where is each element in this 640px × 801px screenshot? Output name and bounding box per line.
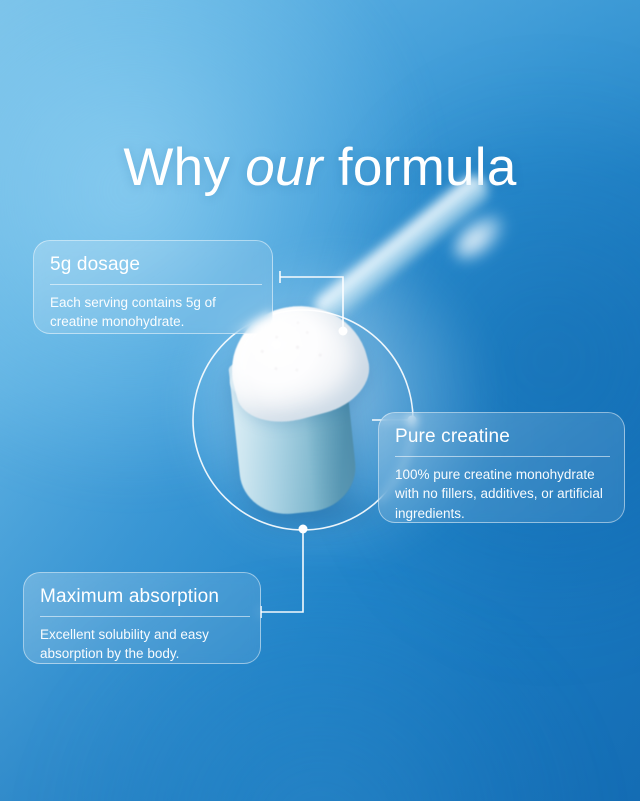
card-title: 5g dosage	[50, 253, 256, 277]
card-body: 100% pure creatine monohydrate with no f…	[395, 465, 608, 524]
card-divider	[50, 284, 262, 285]
page-title-emphasis: our	[245, 138, 323, 197]
card-title: Pure creatine	[395, 425, 608, 449]
card-body: Each serving contains 5g of creatine mon…	[50, 293, 256, 332]
card-pure-creatine[interactable]: Pure creatine 100% pure creatine monohyd…	[378, 412, 625, 523]
card-divider	[395, 456, 610, 457]
page-title: Why our formula	[0, 139, 640, 197]
card-divider	[40, 616, 250, 617]
page-title-suffix: formula	[338, 138, 517, 197]
card-5g-dosage[interactable]: 5g dosage Each serving contains 5g of cr…	[33, 240, 273, 334]
card-body: Excellent solubility and easy absorption…	[40, 625, 244, 664]
page-title-prefix: Why	[123, 138, 230, 197]
card-maximum-absorption[interactable]: Maximum absorption Excellent solubility …	[23, 572, 261, 664]
promo-banner: Why our formula 5g dosage E	[0, 0, 640, 801]
card-title: Maximum absorption	[40, 585, 244, 609]
